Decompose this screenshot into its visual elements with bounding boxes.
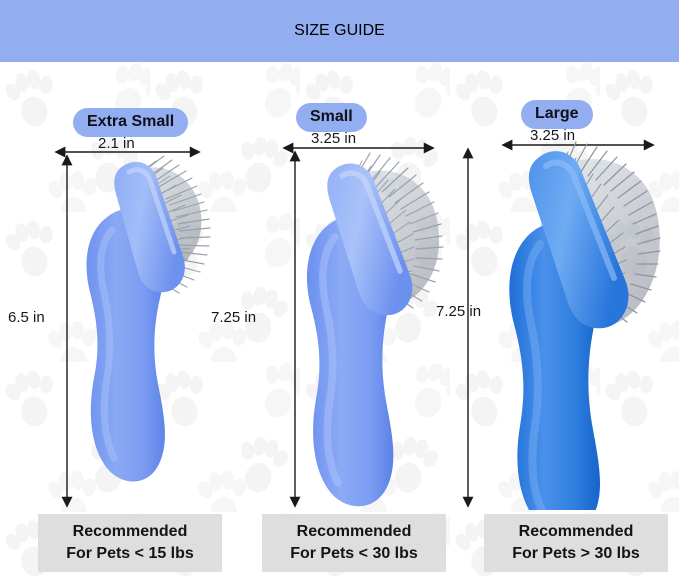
recommendation-line-2: For Pets < 15 lbs [66, 545, 194, 563]
brush-illustration-extra-small [60, 152, 230, 507]
recommendation-line-2: For Pets < 30 lbs [290, 545, 418, 563]
recommendation-line-1: Recommended [73, 523, 188, 541]
recommendation-box-small: Recommended For Pets < 30 lbs [262, 514, 446, 572]
recommendation-line-1: Recommended [519, 523, 634, 541]
brush-illustration-large [480, 140, 679, 510]
page-title: SIZE GUIDE [294, 22, 385, 40]
size-column-large: Large 3.25 in 7.25 in [445, 62, 679, 585]
header-banner: SIZE GUIDE [0, 0, 679, 62]
size-column-extra-small: Extra Small 2.1 in 6.5 in [0, 62, 245, 585]
recommendation-box-extra-small: Recommended For Pets < 15 lbs [38, 514, 222, 572]
brush-illustration-small [280, 147, 460, 507]
recommendation-line-1: Recommended [297, 523, 412, 541]
recommendation-line-2: For Pets > 30 lbs [512, 545, 640, 563]
size-column-small: Small 3.25 in 7.25 in [245, 62, 445, 585]
recommendation-box-large: Recommended For Pets > 30 lbs [484, 514, 668, 572]
